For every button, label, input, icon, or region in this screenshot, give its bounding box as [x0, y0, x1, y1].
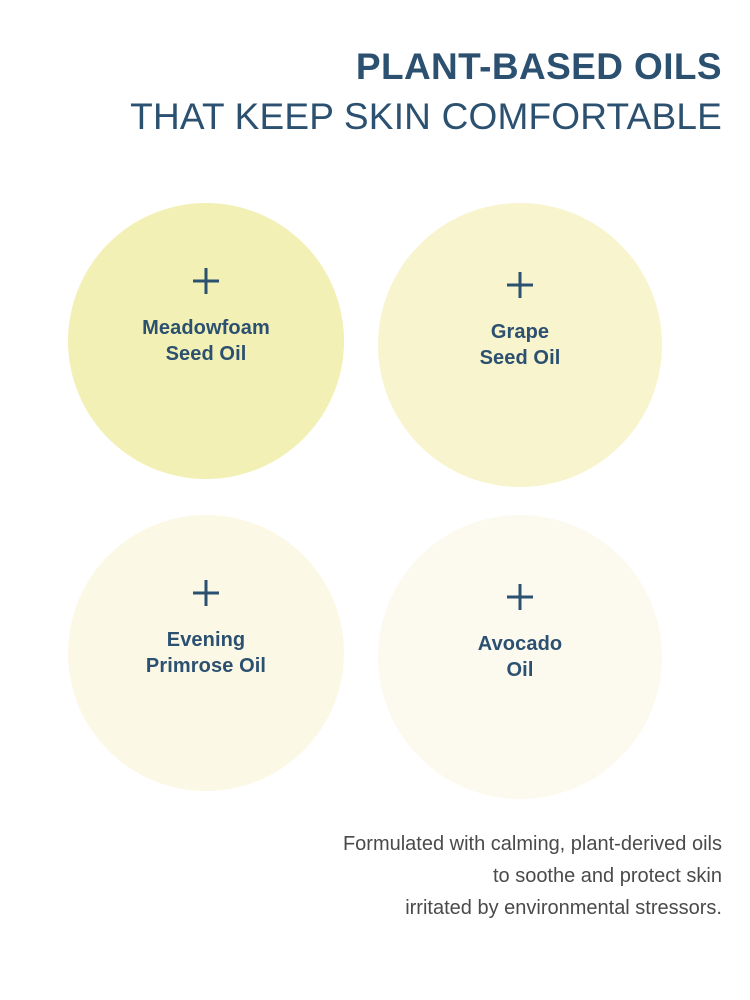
description-line-3: irritated by environmental stressors.	[0, 892, 722, 924]
ingredient-card-grape-seed-oil[interactable]: Grape Seed Oil	[378, 203, 662, 487]
description-line-2: to soothe and protect skin	[0, 860, 722, 892]
ingredient-label-line-2: Seed Oil	[392, 345, 648, 371]
ingredient-card-avocado-oil[interactable]: Avocado Oil	[378, 515, 662, 799]
page-title-line-1: PLANT-BASED OILS	[0, 44, 722, 90]
description-text: Formulated with calming, plant-derived o…	[0, 828, 722, 924]
plus-icon	[190, 577, 222, 609]
ingredient-label-line-2: Oil	[392, 657, 648, 683]
ingredient-label-line-1: Avocado	[392, 631, 648, 657]
ingredient-label-line-1: Grape	[392, 319, 648, 345]
plus-icon	[504, 269, 536, 301]
ingredient-label: Avocado Oil	[378, 631, 662, 683]
ingredient-label-line-2: Primrose Oil	[82, 653, 330, 679]
ingredient-label: Meadowfoam Seed Oil	[68, 315, 344, 367]
description-line-1: Formulated with calming, plant-derived o…	[0, 828, 722, 860]
plus-icon	[504, 581, 536, 613]
ingredient-grid: Meadowfoam Seed Oil Grape Seed Oil Eveni…	[0, 203, 750, 803]
plant-based-oils-infographic: PLANT-BASED OILS THAT KEEP SKIN COMFORTA…	[0, 0, 750, 1000]
ingredient-card-meadowfoam-seed-oil[interactable]: Meadowfoam Seed Oil	[68, 203, 344, 479]
ingredient-label-line-1: Meadowfoam	[82, 315, 330, 341]
plus-icon	[190, 265, 222, 297]
ingredient-label-line-2: Seed Oil	[82, 341, 330, 367]
page-title: PLANT-BASED OILS THAT KEEP SKIN COMFORTA…	[0, 44, 722, 144]
ingredient-label-line-1: Evening	[82, 627, 330, 653]
page-title-line-2: THAT KEEP SKIN COMFORTABLE	[0, 90, 722, 144]
ingredient-card-evening-primrose-oil[interactable]: Evening Primrose Oil	[68, 515, 344, 791]
ingredient-label: Evening Primrose Oil	[68, 627, 344, 679]
ingredient-label: Grape Seed Oil	[378, 319, 662, 371]
